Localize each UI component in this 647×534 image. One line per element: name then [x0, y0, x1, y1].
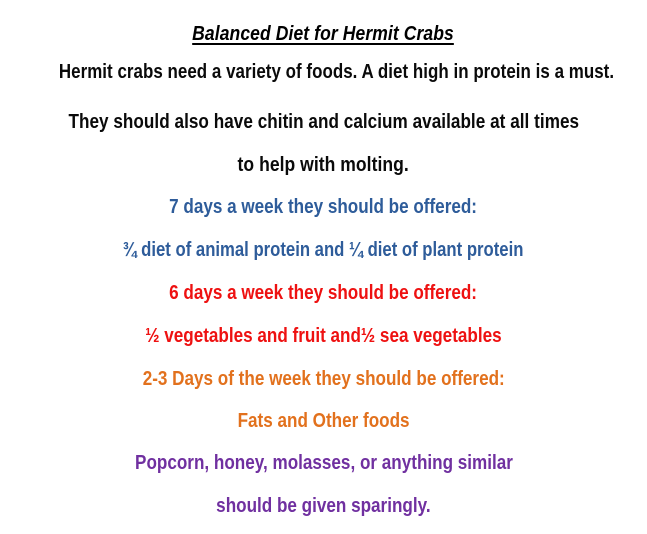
- six-days-detail-text: ½ vegetables and fruit and½ sea vegetabl…: [145, 326, 501, 346]
- seven-days-detail-text: ¾ diet of animal protein and ¼ diet of p…: [123, 240, 524, 260]
- seven-days-heading: 7 days a week they should be offered:: [0, 197, 647, 217]
- intro-line-1: Hermit crabs need a variety of foods. A …: [0, 62, 647, 83]
- sparingly-line-1-text: Popcorn, honey, molasses, or anything si…: [135, 453, 513, 473]
- intro-line-3-text: to help with molting.: [238, 155, 409, 176]
- sparingly-line-1: Popcorn, honey, molasses, or anything si…: [0, 453, 647, 473]
- intro-line-1-text: Hermit crabs need a variety of foods. A …: [59, 62, 614, 83]
- document-title: Balanced Diet for Hermit Crabs: [0, 24, 647, 45]
- sparingly-line-2-text: should be given sparingly.: [216, 496, 430, 516]
- intro-line-2: They should also have chitin and calcium…: [0, 112, 647, 133]
- intro-line-2-text: They should also have chitin and calcium…: [68, 112, 579, 133]
- intro-line-3: to help with molting.: [0, 155, 647, 176]
- six-days-detail: ½ vegetables and fruit and½ sea vegetabl…: [0, 326, 647, 346]
- sparingly-line-2: should be given sparingly.: [0, 496, 647, 516]
- seven-days-heading-text: 7 days a week they should be offered:: [170, 197, 478, 217]
- six-days-heading-text: 6 days a week they should be offered:: [170, 283, 478, 303]
- seven-days-detail: ¾ diet of animal protein and ¼ diet of p…: [0, 240, 647, 260]
- document-canvas: Balanced Diet for Hermit Crabs Hermit cr…: [0, 0, 647, 534]
- six-days-heading: 6 days a week they should be offered:: [0, 283, 647, 303]
- two-three-days-detail-text: Fats and Other foods: [238, 411, 410, 431]
- two-three-days-heading-text: 2-3 Days of the week they should be offe…: [142, 369, 504, 389]
- two-three-days-detail: Fats and Other foods: [0, 411, 647, 431]
- two-three-days-heading: 2-3 Days of the week they should be offe…: [0, 369, 647, 389]
- document-title-text: Balanced Diet for Hermit Crabs: [193, 24, 455, 45]
